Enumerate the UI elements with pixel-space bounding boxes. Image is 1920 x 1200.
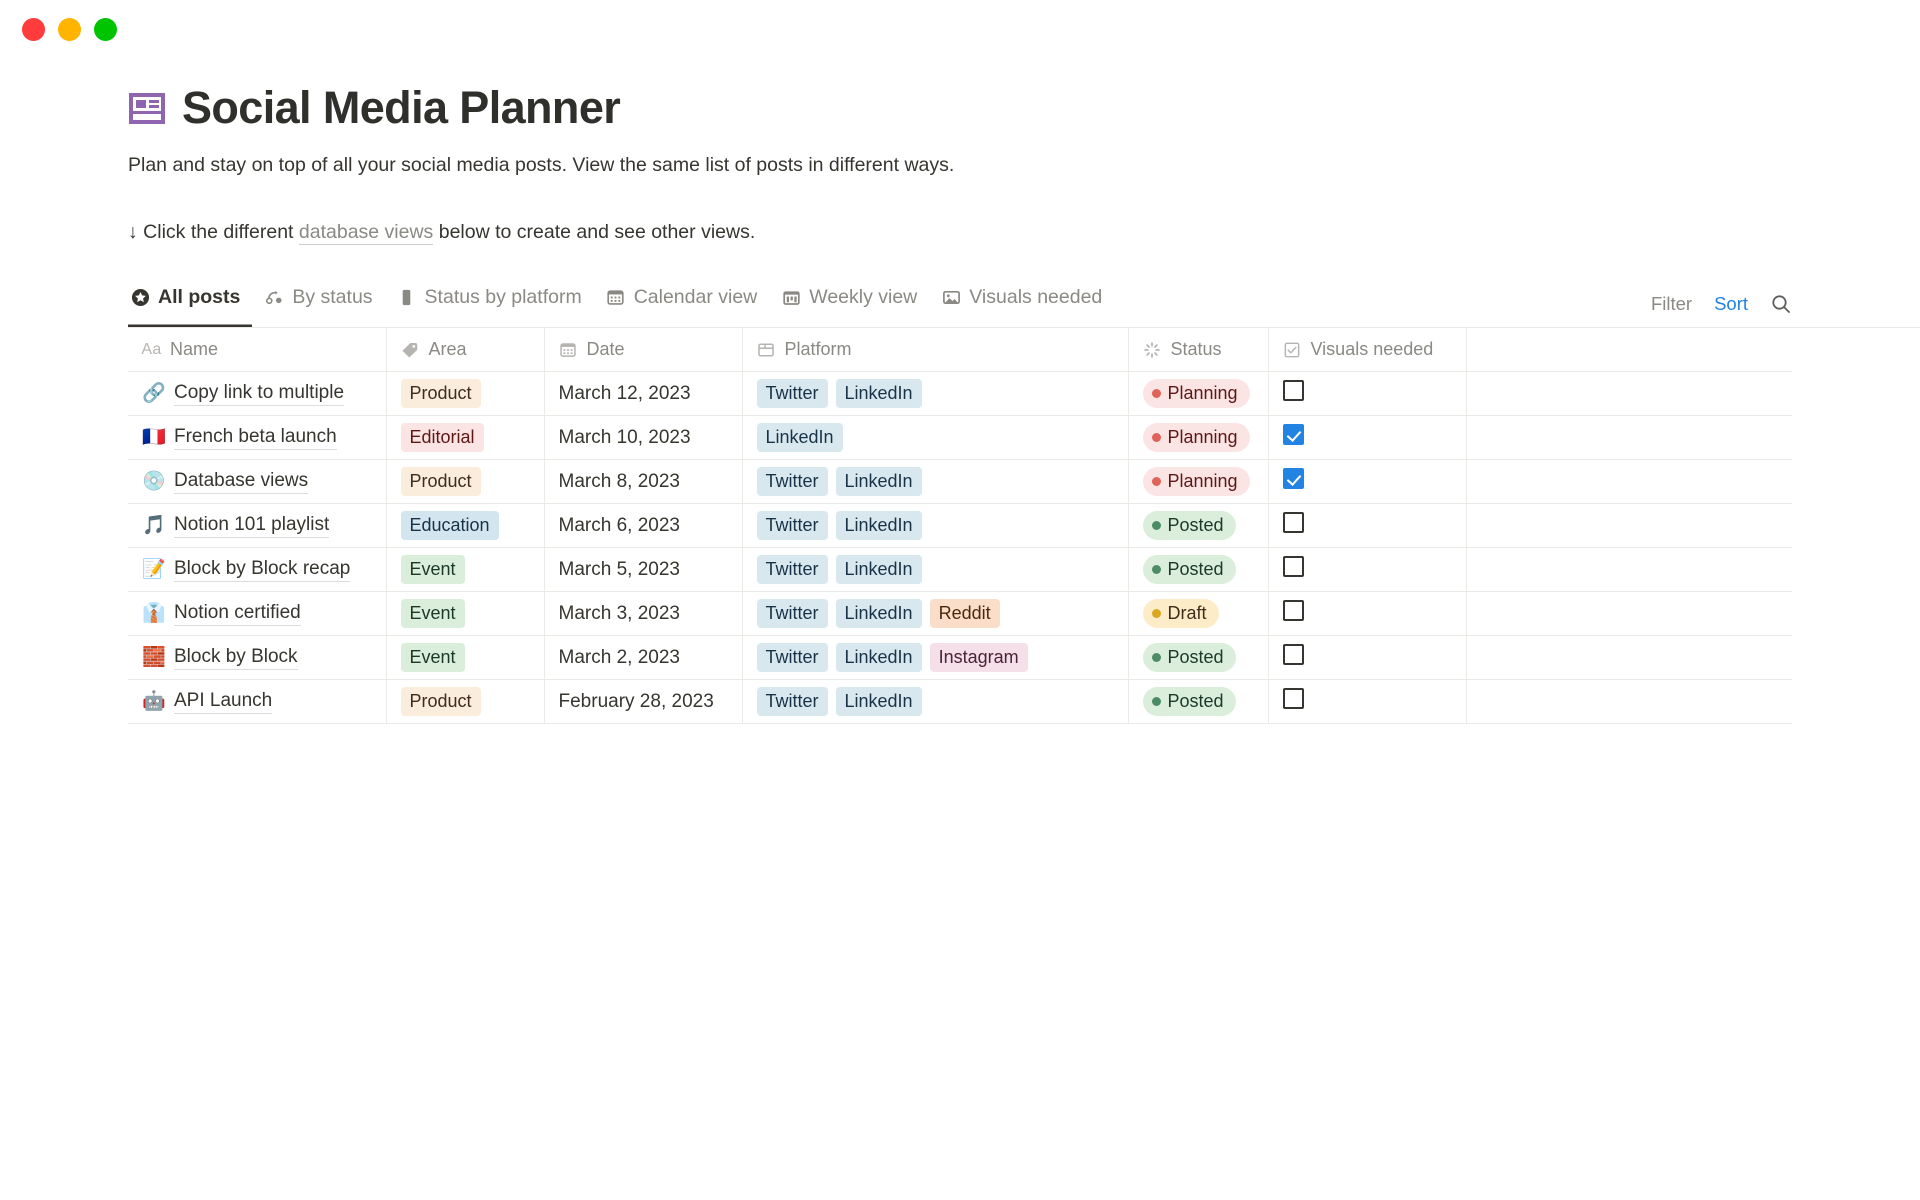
platform-tag[interactable]: LinkedIn (836, 555, 922, 584)
row-title[interactable]: API Launch (174, 690, 272, 714)
column-header-name[interactable]: AaName (128, 328, 386, 372)
cell-empty (1466, 416, 1792, 460)
platform-tag[interactable]: Twitter (757, 511, 828, 540)
status-label: Posted (1168, 690, 1224, 713)
platform-tag[interactable]: LinkedIn (836, 599, 922, 628)
area-tag[interactable]: Product (401, 467, 481, 496)
robot-emoji: 🤖 (142, 692, 164, 711)
table-body: 🔗Copy link to multipleProductMarch 12, 2… (128, 372, 1792, 724)
cell-date[interactable]: March 6, 2023 (544, 504, 742, 548)
cell-area[interactable]: Event (386, 592, 544, 636)
visuals-needed-checkbox[interactable] (1283, 556, 1304, 577)
timeline-icon (781, 288, 801, 308)
status-label: Posted (1168, 558, 1224, 581)
area-tag[interactable]: Event (401, 643, 465, 672)
tab-calendar-view[interactable]: Calendar view (594, 279, 770, 327)
cell-empty (1466, 372, 1792, 416)
cell-platform[interactable]: TwitterLinkedIn (742, 460, 1128, 504)
platform-tag[interactable]: Twitter (757, 599, 828, 628)
cell-area[interactable]: Editorial (386, 416, 544, 460)
cell-visuals-needed[interactable] (1268, 548, 1466, 592)
tab-by-status[interactable]: By status (252, 279, 384, 327)
status-dot (1152, 433, 1161, 442)
visuals-needed-checkbox[interactable] (1283, 468, 1304, 489)
column-header-status[interactable]: Status (1128, 328, 1268, 372)
tab-label: Status by platform (425, 286, 582, 309)
column-label: Visuals needed (1311, 339, 1434, 360)
cell-empty (1466, 504, 1792, 548)
platform-tag[interactable]: Twitter (757, 379, 828, 408)
area-tag[interactable]: Editorial (401, 423, 484, 452)
calendar-icon (559, 340, 578, 359)
status-dot (1152, 477, 1161, 486)
text-type-icon: Aa (142, 340, 161, 359)
france-flag-emoji: 🇫🇷 (142, 428, 164, 447)
page-title: Social Media Planner (182, 84, 620, 131)
cell-platform[interactable]: TwitterLinkedIn (742, 504, 1128, 548)
cell-name[interactable]: 💿Database views (128, 460, 386, 504)
platform-tag[interactable]: LinkedIn (757, 423, 843, 452)
callout-suffix: below to create and see other views. (433, 221, 755, 243)
platform-tag[interactable]: LinkedIn (836, 467, 922, 496)
visuals-needed-checkbox[interactable] (1283, 512, 1304, 533)
posts-table: AaName Area Date (128, 328, 1792, 725)
cell-date[interactable]: March 2, 2023 (544, 636, 742, 680)
cell-name[interactable]: 🤖API Launch (128, 680, 386, 724)
status-label: Planning (1168, 382, 1238, 405)
web-layout-icon (128, 89, 166, 127)
platform-tag[interactable]: LinkedIn (836, 511, 922, 540)
brick-emoji: 🧱 (142, 648, 164, 667)
platform-tag[interactable]: LinkedIn (836, 643, 922, 672)
status-dot (1152, 389, 1161, 398)
cell-name[interactable]: 📝Block by Block recap (128, 548, 386, 592)
memo-emoji: 📝 (142, 560, 164, 579)
phone-icon (397, 288, 417, 308)
tab-weekly-view[interactable]: Weekly view (769, 279, 929, 327)
table-row[interactable]: 🔗Copy link to multipleProductMarch 12, 2… (128, 372, 1792, 416)
platform-tag[interactable]: LinkedIn (836, 687, 922, 716)
link-emoji: 🔗 (142, 384, 164, 403)
cell-platform[interactable]: TwitterLinkedIn (742, 372, 1128, 416)
platform-tag[interactable]: Twitter (757, 555, 828, 584)
cell-empty (1466, 548, 1792, 592)
checkbox-icon (1283, 340, 1302, 359)
cell-status[interactable]: Planning (1128, 372, 1268, 416)
cell-name[interactable]: 🇫🇷French beta launch (128, 416, 386, 460)
cell-empty (1466, 460, 1792, 504)
page-content: Social Media Planner Plan and stay on to… (0, 84, 1920, 724)
column-label: Date (587, 339, 625, 360)
cell-date[interactable]: March 5, 2023 (544, 548, 742, 592)
cell-visuals-needed[interactable] (1268, 372, 1466, 416)
tab-all-posts[interactable]: All posts (128, 279, 252, 327)
cell-empty (1466, 592, 1792, 636)
star-gallery-icon (130, 288, 150, 308)
image-icon (941, 288, 961, 308)
cell-status[interactable]: Draft (1128, 592, 1268, 636)
calendar-icon (606, 288, 626, 308)
database-views-link[interactable]: database views (299, 221, 433, 245)
area-tag[interactable]: Product (401, 687, 481, 716)
column-label: Status (1171, 339, 1222, 360)
close-button[interactable] (22, 18, 45, 41)
page-header: Social Media Planner (128, 84, 1920, 131)
row-title[interactable]: Database views (174, 470, 308, 494)
cell-date[interactable]: March 12, 2023 (544, 372, 742, 416)
visuals-needed-checkbox[interactable] (1283, 600, 1304, 621)
cell-name[interactable]: 🎵Notion 101 playlist (128, 504, 386, 548)
page-callout: ↓ Click the different database views bel… (128, 218, 1920, 246)
visuals-needed-checkbox[interactable] (1283, 644, 1304, 665)
status-dot (1152, 521, 1161, 530)
status-dot (1152, 697, 1161, 706)
status-label: Posted (1168, 514, 1224, 537)
status-label: Draft (1168, 602, 1207, 625)
cell-status[interactable]: Posted (1128, 548, 1268, 592)
tab-label: Weekly view (809, 286, 917, 309)
status-label: Planning (1168, 470, 1238, 493)
sort-button[interactable]: Sort (1714, 293, 1748, 315)
row-title[interactable]: Notion 101 playlist (174, 514, 329, 538)
cell-platform[interactable]: LinkedIn (742, 416, 1128, 460)
tab-label: Visuals needed (969, 286, 1102, 309)
area-tag[interactable]: Education (401, 511, 499, 540)
table-row[interactable]: 🇫🇷French beta launchEditorialMarch 10, 2… (128, 416, 1792, 460)
status-label: Posted (1168, 646, 1224, 669)
cell-date[interactable]: March 3, 2023 (544, 592, 742, 636)
board-group-icon (264, 288, 284, 308)
cell-platform[interactable]: TwitterLinkedInReddit (742, 592, 1128, 636)
column-header-visuals-needed[interactable]: Visuals needed (1268, 328, 1466, 372)
cell-platform[interactable]: TwitterLinkedIn (742, 548, 1128, 592)
status-spinner-icon (1143, 340, 1162, 359)
visuals-needed-checkbox[interactable] (1283, 424, 1304, 445)
cell-status[interactable]: Planning (1128, 460, 1268, 504)
database-view-bar: All posts By status Status by platform C… (128, 280, 1920, 328)
tab-visuals-needed[interactable]: Visuals needed (929, 279, 1114, 327)
area-tag[interactable]: Product (401, 379, 481, 408)
platform-tag[interactable]: Reddit (930, 599, 1000, 628)
cell-date[interactable]: March 10, 2023 (544, 416, 742, 460)
cell-date[interactable]: March 8, 2023 (544, 460, 742, 504)
row-title[interactable]: Block by Block recap (174, 558, 350, 582)
cell-visuals-needed[interactable] (1268, 504, 1466, 548)
row-title[interactable]: Block by Block (174, 646, 298, 670)
platform-tag[interactable]: Twitter (757, 467, 828, 496)
cell-visuals-needed[interactable] (1268, 680, 1466, 724)
column-label: Platform (785, 339, 852, 360)
cell-name[interactable]: 👔Notion certified (128, 592, 386, 636)
tab-label: All posts (158, 286, 240, 309)
platform-tag[interactable]: LinkedIn (836, 379, 922, 408)
necktie-emoji: 👔 (142, 604, 164, 623)
table-row[interactable]: 🤖API LaunchProductFebruary 28, 2023Twitt… (128, 680, 1792, 724)
table-row[interactable]: 💿Database viewsProductMarch 8, 2023Twitt… (128, 460, 1792, 504)
platform-tag[interactable]: Twitter (757, 687, 828, 716)
tab-label: Calendar view (634, 286, 758, 309)
column-header-date[interactable]: Date (544, 328, 742, 372)
filter-button[interactable]: Filter (1651, 293, 1692, 315)
cell-visuals-needed[interactable] (1268, 416, 1466, 460)
database-table-wrapper: AaName Area Date (128, 328, 1920, 725)
cell-platform[interactable]: TwitterLinkedInInstagram (742, 636, 1128, 680)
cell-name[interactable]: 🧱Block by Block (128, 636, 386, 680)
cell-status[interactable]: Posted (1128, 680, 1268, 724)
status-dot (1152, 609, 1161, 618)
platform-tag[interactable]: Twitter (757, 643, 828, 672)
table-header-row: AaName Area Date (128, 328, 1792, 372)
cell-visuals-needed[interactable] (1268, 636, 1466, 680)
status-dot (1152, 565, 1161, 574)
tab-label: By status (292, 286, 372, 309)
status-dot (1152, 653, 1161, 662)
table-row[interactable]: 🧱Block by BlockEventMarch 2, 2023Twitter… (128, 636, 1792, 680)
area-tag[interactable]: Event (401, 555, 465, 584)
column-label: Name (170, 339, 218, 360)
music-note-emoji: 🎵 (142, 516, 164, 535)
column-header-platform[interactable]: Platform (742, 328, 1128, 372)
visuals-needed-checkbox[interactable] (1283, 688, 1304, 709)
cell-date[interactable]: February 28, 2023 (544, 680, 742, 724)
callout-prefix: ↓ Click the different (128, 221, 299, 243)
cell-visuals-needed[interactable] (1268, 592, 1466, 636)
row-title[interactable]: Notion certified (174, 602, 301, 626)
cell-name[interactable]: 🔗Copy link to multiple (128, 372, 386, 416)
cell-platform[interactable]: TwitterLinkedIn (742, 680, 1128, 724)
cell-area[interactable]: Product (386, 460, 544, 504)
optical-disk-emoji: 💿 (142, 472, 164, 491)
column-header-add[interactable] (1466, 328, 1792, 372)
tab-status-by-platform[interactable]: Status by platform (385, 279, 594, 327)
multiselect-icon (757, 340, 776, 359)
cell-status[interactable]: Posted (1128, 636, 1268, 680)
cell-visuals-needed[interactable] (1268, 460, 1466, 504)
cell-status[interactable]: Posted (1128, 504, 1268, 548)
table-row[interactable]: 🎵Notion 101 playlistEducationMarch 6, 20… (128, 504, 1792, 548)
minimize-button[interactable] (58, 18, 81, 41)
view-actions: Filter Sort (1651, 293, 1792, 327)
table-row[interactable]: 👔Notion certifiedEventMarch 3, 2023Twitt… (128, 592, 1792, 636)
tag-icon (401, 340, 420, 359)
platform-tag[interactable]: Instagram (930, 643, 1028, 672)
page-subtitle: Plan and stay on top of all your social … (128, 151, 1920, 179)
cell-area[interactable]: Education (386, 504, 544, 548)
row-title[interactable]: Copy link to multiple (174, 382, 344, 406)
window-titlebar (0, 0, 1920, 58)
cell-status[interactable]: Planning (1128, 416, 1268, 460)
cell-area[interactable]: Product (386, 680, 544, 724)
area-tag[interactable]: Event (401, 599, 465, 628)
column-label: Area (429, 339, 467, 360)
table-header: AaName Area Date (128, 328, 1792, 372)
cell-area[interactable]: Event (386, 548, 544, 592)
visuals-needed-checkbox[interactable] (1283, 380, 1304, 401)
cell-area[interactable]: Event (386, 636, 544, 680)
row-title[interactable]: French beta launch (174, 426, 337, 450)
status-label: Planning (1168, 426, 1238, 449)
column-header-area[interactable]: Area (386, 328, 544, 372)
table-row[interactable]: 📝Block by Block recapEventMarch 5, 2023T… (128, 548, 1792, 592)
cell-empty (1466, 680, 1792, 724)
maximize-button[interactable] (94, 18, 117, 41)
cell-empty (1466, 636, 1792, 680)
view-tabs: All posts By status Status by platform C… (128, 279, 1114, 327)
cell-area[interactable]: Product (386, 372, 544, 416)
search-icon[interactable] (1770, 293, 1792, 315)
